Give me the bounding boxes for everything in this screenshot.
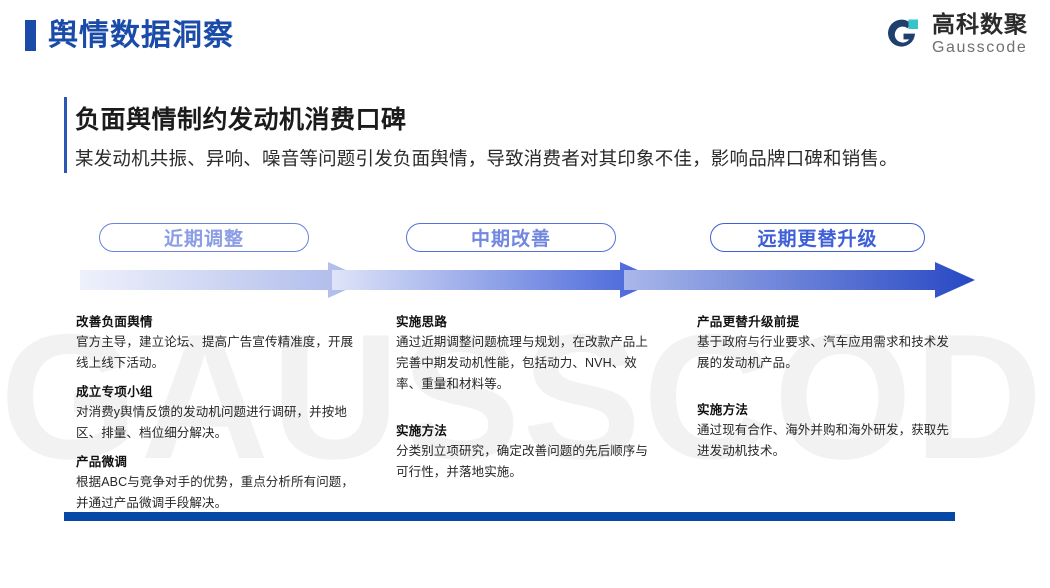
- block-body: 官方主导，建立论坛、提高广告宣传精准度，开展线上线下活动。: [76, 332, 354, 373]
- block-body: 对消费y舆情反馈的发动机问题进行调研，并按地区、排量、档位细分解决。: [76, 402, 354, 443]
- content-block: 产品更替升级前提 基于政府与行业要求、汽车应用需求和技术发展的发动机产品。: [697, 312, 959, 374]
- headline-accent-rule: [64, 97, 67, 173]
- gausscode-g-logo-icon: [881, 14, 923, 56]
- phase-pill-mid-term[interactable]: 中期改善: [406, 223, 616, 252]
- logo-name-en: Gausscode: [932, 40, 1028, 56]
- block-body: 通过近期调整问题梳理与规划，在改款产品上完善中期发动机性能，包括动力、NVH、效…: [396, 332, 658, 395]
- content-block: 改善负面舆情 官方主导，建立论坛、提高广告宣传精准度，开展线上线下活动。: [76, 312, 354, 373]
- content-block: 成立专项小组 对消费y舆情反馈的发动机问题进行调研，并按地区、排量、档位细分解决…: [76, 382, 354, 443]
- content-block: 实施方法 分类别立项研究，确定改善问题的先后顺序与可行性，并落地实施。: [396, 421, 658, 483]
- phase-pill-near-term[interactable]: 近期调整: [99, 223, 309, 252]
- slide-canvas: 舆情数据洞察 高科数聚 Gausscode 负面舆情制约发动机消费口碑 某发动机…: [0, 0, 1050, 588]
- block-body: 通过现有合作、海外并购和海外研发，获取先进发动机技术。: [697, 420, 959, 462]
- footer-accent-bar: [64, 512, 955, 521]
- header-marker-icon: [25, 20, 36, 51]
- block-title: 产品微调: [76, 452, 354, 472]
- block-body: 基于政府与行业要求、汽车应用需求和技术发展的发动机产品。: [697, 332, 959, 374]
- headline-title: 负面舆情制约发动机消费口碑: [75, 100, 407, 136]
- block-title: 成立专项小组: [76, 382, 354, 402]
- three-segment-arrow-icon: [80, 262, 975, 298]
- brand-logo: 高科数聚 Gausscode: [881, 13, 1028, 56]
- content-block: 实施方法 通过现有合作、海外并购和海外研发，获取先进发动机技术。: [697, 400, 959, 462]
- block-title: 产品更替升级前提: [697, 312, 959, 332]
- block-title: 实施思路: [396, 312, 658, 332]
- block-body: 根据ABC与竞争对手的优势，重点分析所有问题，并通过产品微调手段解决。: [76, 472, 354, 513]
- logo-wordmark: 高科数聚 Gausscode: [932, 13, 1028, 56]
- content-block: 产品微调 根据ABC与竞争对手的优势，重点分析所有问题，并通过产品微调手段解决。: [76, 452, 354, 513]
- block-title: 实施方法: [697, 400, 959, 420]
- phase-column-mid-term: 实施思路 通过近期调整问题梳理与规划，在改款产品上完善中期发动机性能，包括动力、…: [396, 312, 658, 492]
- page-title: 舆情数据洞察: [48, 15, 234, 56]
- phase-pill-long-term[interactable]: 远期更替升级: [710, 223, 925, 252]
- block-body: 分类别立项研究，确定改善问题的先后顺序与可行性，并落地实施。: [396, 441, 658, 483]
- phase-column-long-term: 产品更替升级前提 基于政府与行业要求、汽车应用需求和技术发展的发动机产品。 实施…: [697, 312, 959, 471]
- block-title: 实施方法: [396, 421, 658, 441]
- phase-column-near-term: 改善负面舆情 官方主导，建立论坛、提高广告宣传精准度，开展线上线下活动。 成立专…: [76, 312, 354, 522]
- headline-subtitle: 某发动机共振、异响、噪音等问题引发负面舆情，导致消费者对其印象不佳，影响品牌口碑…: [75, 145, 898, 171]
- logo-name-cn: 高科数聚: [932, 13, 1028, 36]
- block-title: 改善负面舆情: [76, 312, 354, 332]
- content-block: 实施思路 通过近期调整问题梳理与规划，在改款产品上完善中期发动机性能，包括动力、…: [396, 312, 658, 395]
